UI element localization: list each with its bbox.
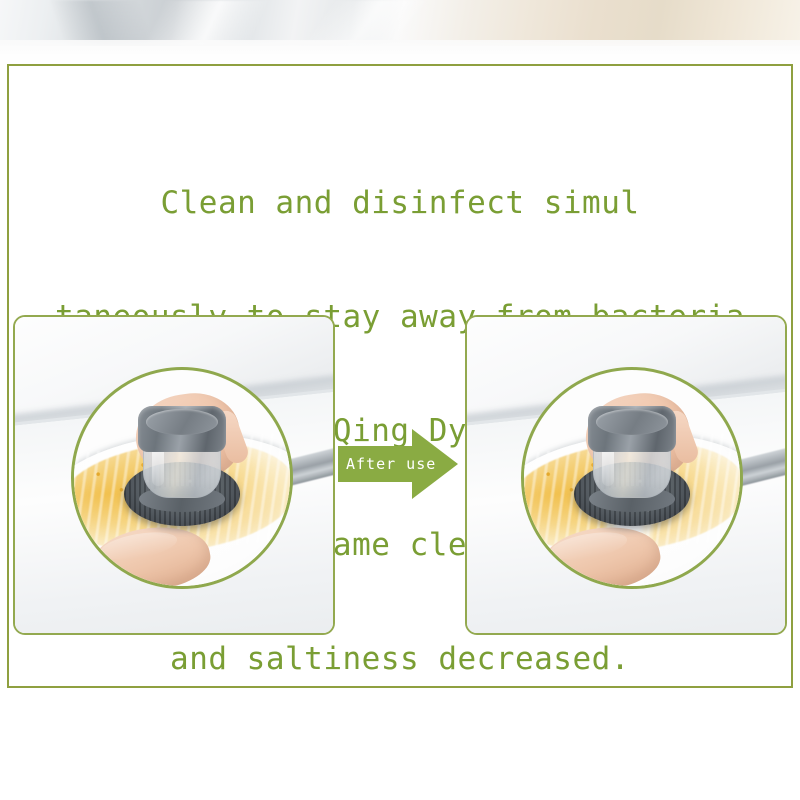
headline-line-5: and saltiness decreased.: [0, 640, 800, 678]
headline-line-1: Clean and disinfect simul: [0, 184, 800, 222]
top-fade-overlay: [0, 40, 800, 62]
after-use-label: After use: [346, 455, 432, 473]
after-circle-inset: [521, 367, 743, 589]
brush-cap: [138, 406, 226, 452]
dish-brush: [122, 400, 242, 530]
brush-cap: [588, 406, 676, 452]
before-circle-inset: [71, 367, 293, 589]
after-use-photo: [465, 315, 787, 635]
after-use-arrow: After use: [338, 429, 458, 499]
before-use-photo: [13, 315, 335, 635]
product-infographic: Clean and disinfect simul taneously to s…: [0, 0, 800, 800]
dish-brush: [572, 400, 692, 530]
